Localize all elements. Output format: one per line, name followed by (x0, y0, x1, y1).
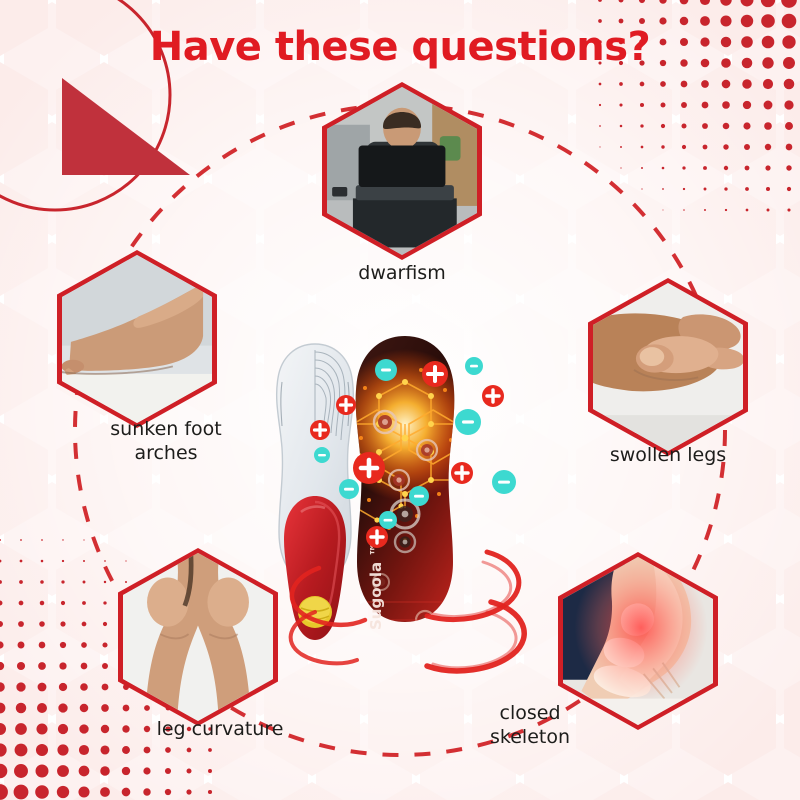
negative-badge (314, 447, 330, 463)
label-dwarfism: dwarfism (300, 262, 504, 286)
negative-badge (379, 511, 397, 529)
positive-badge (422, 361, 448, 387)
positive-badge (353, 452, 385, 484)
negative-badge (339, 479, 359, 499)
label-swollen-legs: swollen legs (568, 444, 768, 468)
positive-badge (482, 385, 504, 407)
label-closed-skeleton: closed skeleton (440, 702, 620, 750)
positive-badge (310, 420, 330, 440)
negative-badge (455, 409, 481, 435)
page-title: Have these questions? (0, 24, 800, 70)
hex-card-swollen-legs[interactable] (588, 278, 748, 456)
positive-badge (366, 526, 388, 548)
red-triangle (62, 78, 190, 175)
hex-card-dwarfism[interactable] (322, 82, 482, 260)
label-leg-curvature: leg curvature (120, 718, 320, 742)
positive-badge (451, 462, 473, 484)
negative-badge (465, 357, 483, 375)
brand-label: Sugoola ™ (367, 542, 385, 630)
hex-card-sunken-foot-arches[interactable] (57, 250, 217, 428)
product-insoles[interactable]: Sugoola ™ (255, 330, 555, 700)
hex-card-leg-curvature[interactable] (118, 548, 278, 726)
positive-badge (336, 395, 356, 415)
label-sunken-foot-arches: sunken foot arches (64, 418, 268, 466)
infographic-canvas: Have these questions? dwarfism (0, 0, 800, 800)
negative-badge (375, 359, 397, 381)
negative-badge (492, 470, 516, 494)
negative-badge (409, 486, 429, 506)
